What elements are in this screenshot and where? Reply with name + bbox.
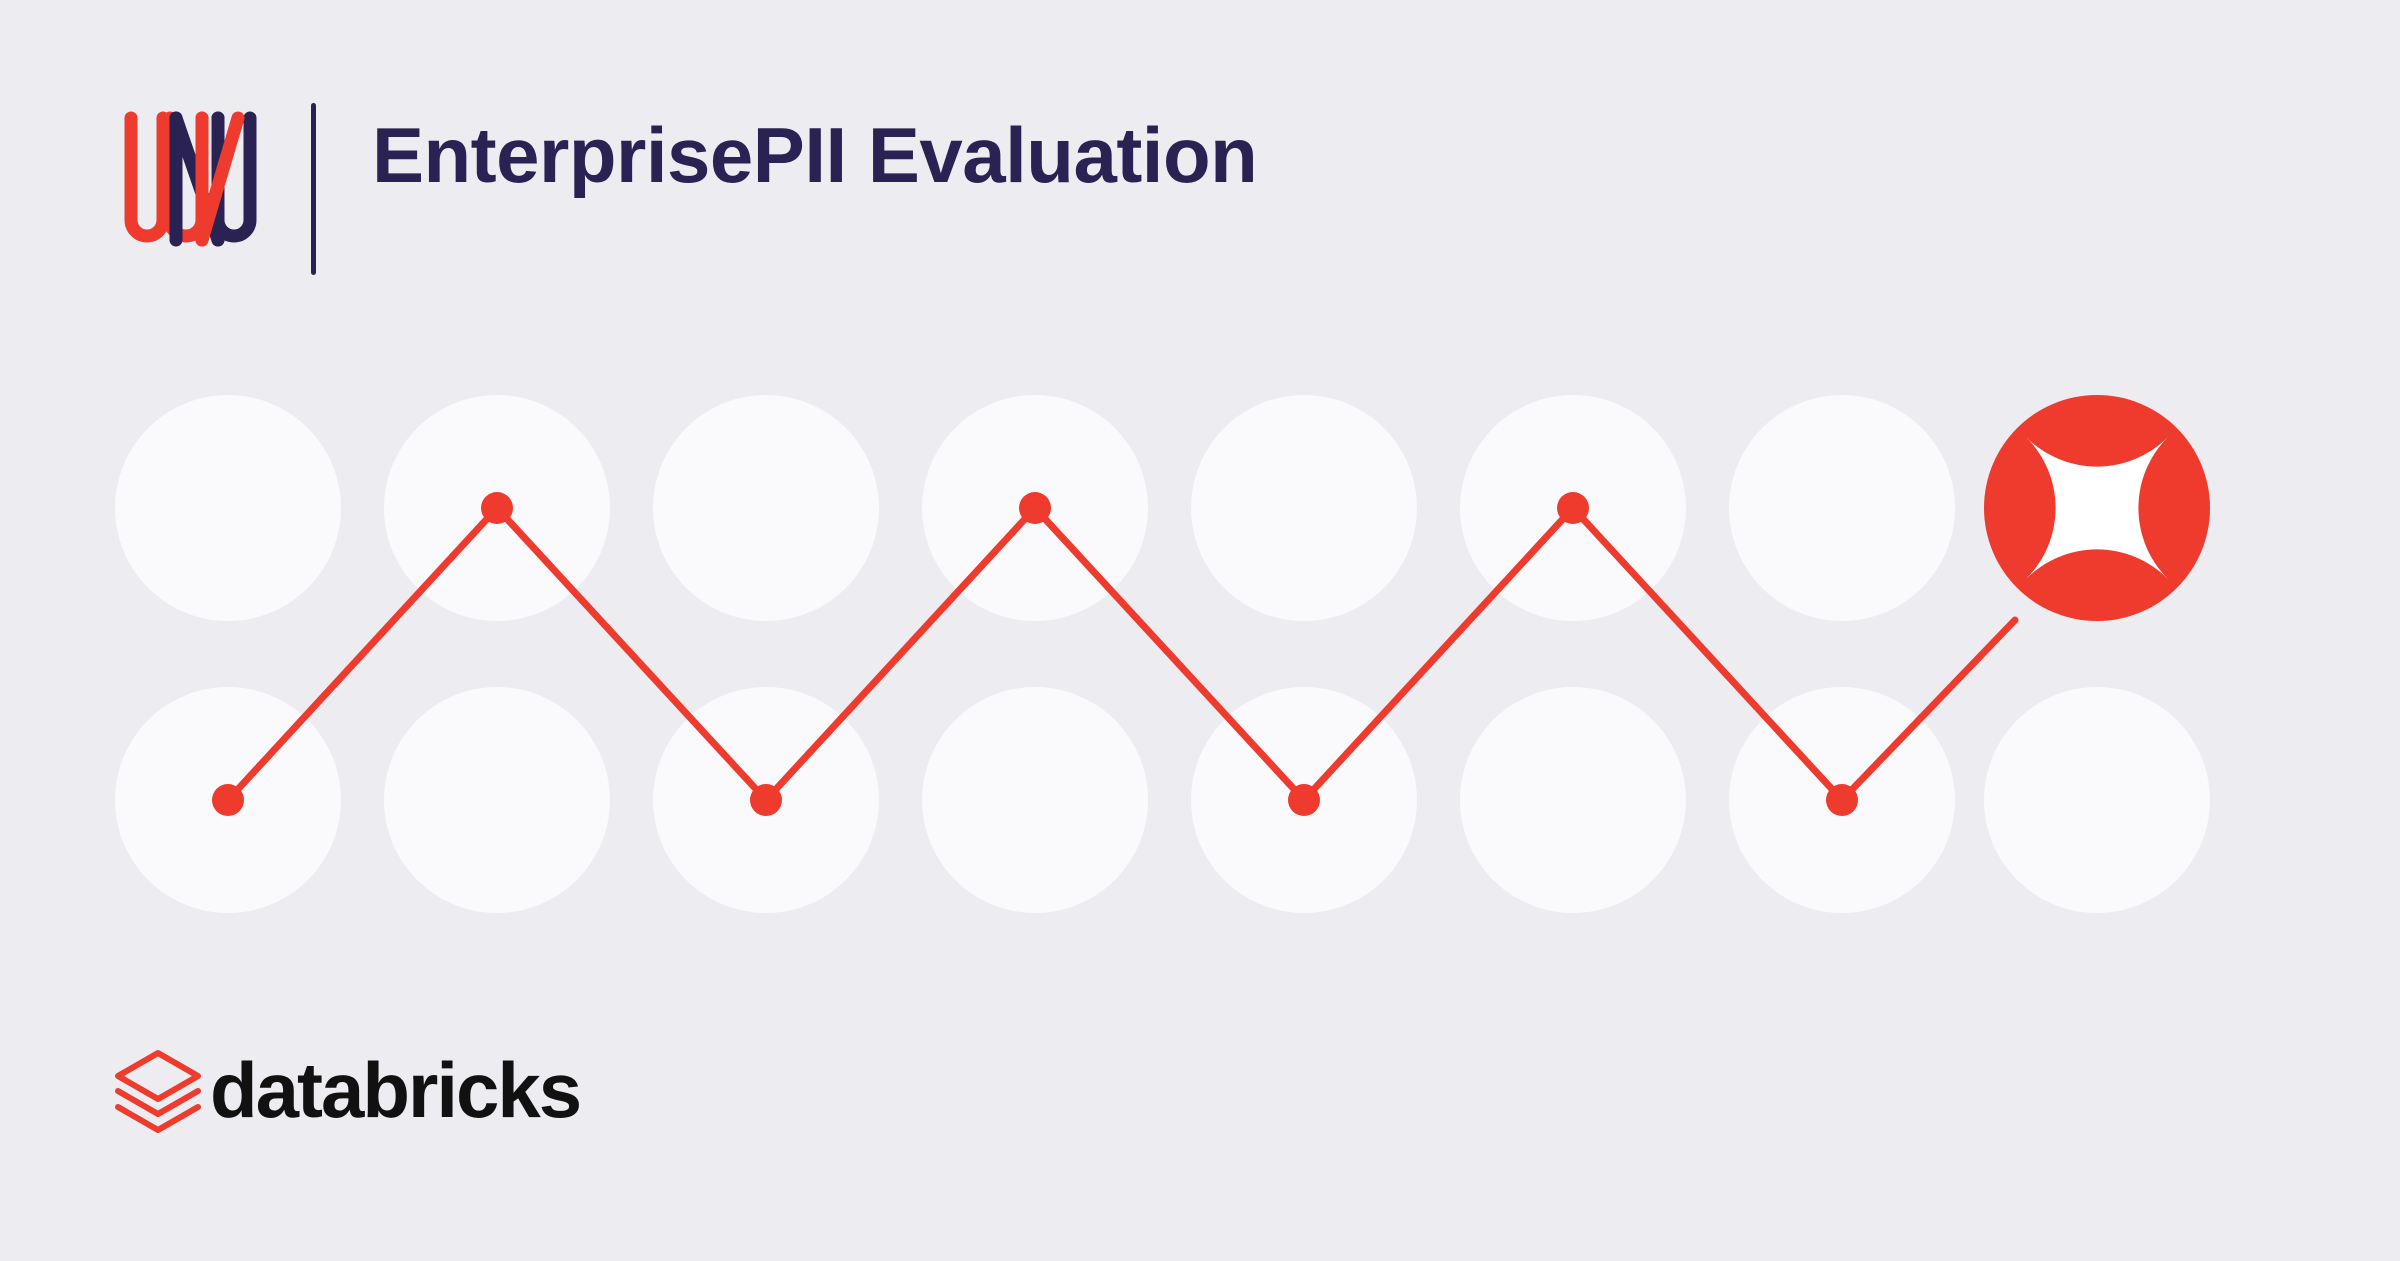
grid-circle (922, 687, 1148, 913)
header-divider (311, 103, 316, 275)
final-node-badge-icon (1984, 395, 2210, 621)
data-point (1557, 492, 1589, 524)
grid-circle (115, 395, 341, 621)
page-title: EnterprisePII Evaluation (372, 116, 1257, 194)
grid-circle (1984, 687, 2210, 913)
grid-circle (1460, 687, 1686, 913)
grid-circle (384, 687, 610, 913)
data-point (212, 784, 244, 816)
grid-circle (1191, 395, 1417, 621)
data-point (1019, 492, 1051, 524)
data-point (750, 784, 782, 816)
poster-canvas: EnterprisePII Evaluation (0, 0, 2400, 1261)
data-point (1826, 784, 1858, 816)
chart-graphic (0, 340, 2400, 960)
databricks-mark-icon (112, 1045, 204, 1141)
zigzag-wave-logo-icon (118, 110, 268, 250)
circle-grid-bottom-row (115, 687, 2210, 913)
data-point (1288, 784, 1320, 816)
databricks-logo: databricks (112, 1045, 632, 1155)
data-point (481, 492, 513, 524)
grid-circle (653, 395, 879, 621)
databricks-wordmark: databricks (210, 1051, 580, 1129)
header: EnterprisePII Evaluation (0, 0, 2400, 300)
grid-circle (1729, 395, 1955, 621)
